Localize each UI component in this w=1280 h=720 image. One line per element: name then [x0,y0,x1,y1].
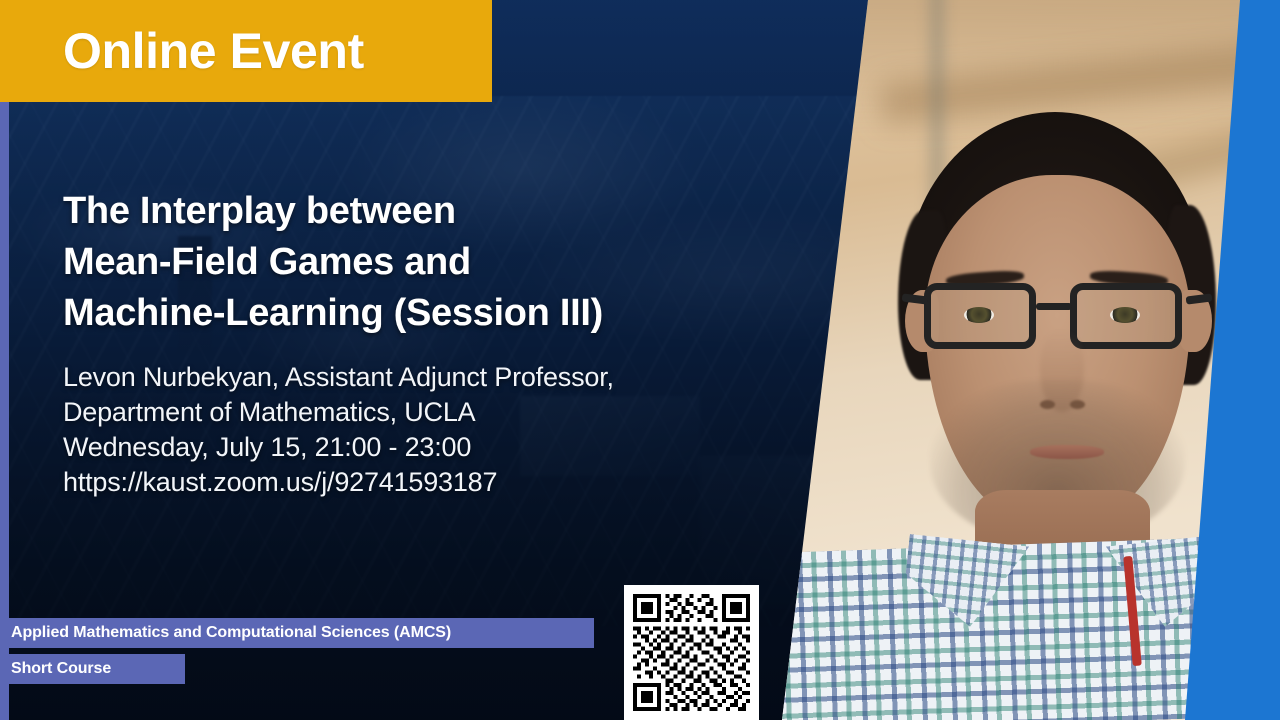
event-type-tag-label: Short Course [11,660,111,678]
department-tag-label: Applied Mathematics and Computational Sc… [11,624,451,642]
zoom-link[interactable]: https://kaust.zoom.us/j/92741593187 [63,465,783,500]
event-content: The Interplay between Mean-Field Games a… [63,186,783,500]
title-line-3: Machine-Learning (Session III) [63,288,783,339]
speaker-affiliation: Department of Mathematics, UCLA [63,395,783,430]
qr-code-matrix [633,594,750,711]
event-poster: Online Event The Interplay between Mean-… [0,0,1280,720]
ribbon-label: Online Event [0,22,364,80]
event-title: The Interplay between Mean-Field Games a… [63,186,783,339]
online-event-ribbon: Online Event [0,0,492,102]
speaker-name: Levon Nurbekyan, Assistant Adjunct Profe… [63,360,783,395]
qr-code[interactable] [624,585,759,720]
event-datetime: Wednesday, July 15, 21:00 - 23:00 [63,430,783,465]
department-tag: Applied Mathematics and Computational Sc… [0,618,594,648]
title-line-1: The Interplay between [63,186,783,237]
event-details: Levon Nurbekyan, Assistant Adjunct Profe… [63,360,783,500]
event-type-tag: Short Course [0,654,185,684]
title-line-2: Mean-Field Games and [63,237,783,288]
